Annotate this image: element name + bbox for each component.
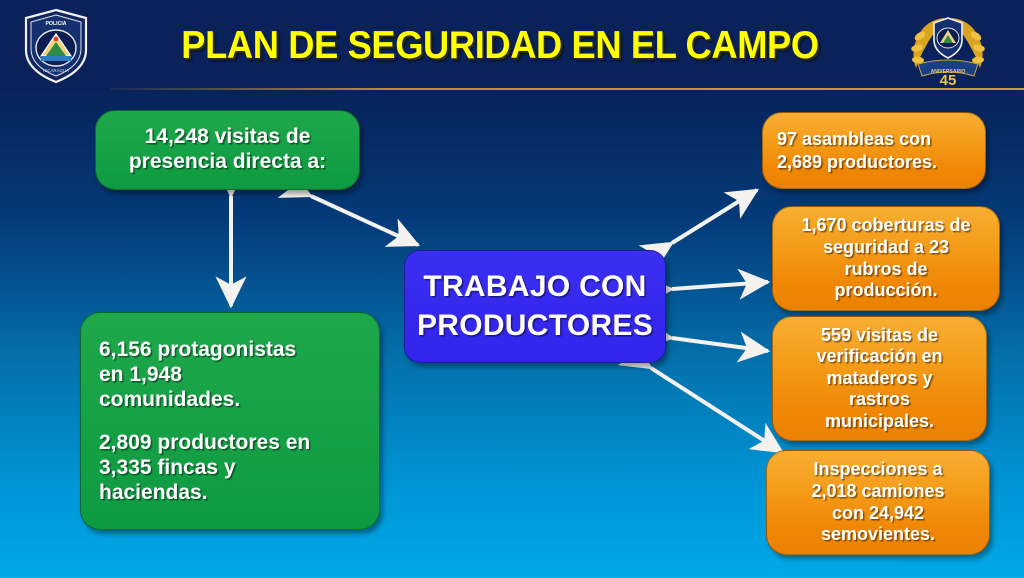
header-divider-rule (110, 88, 1024, 90)
node-line: semovientes. (777, 524, 979, 546)
slide-canvas: POLICIA NICARAGUA ANIVERSARIO 45 PLAN DE… (0, 0, 1024, 578)
node-line: comunidades. (99, 387, 361, 412)
node-line: seguridad a 23 (783, 237, 989, 259)
node-line: presencia directa a: (112, 150, 343, 175)
node-line: 1,670 coberturas de (783, 215, 989, 237)
node-line: con 24,942 (777, 503, 979, 525)
svg-text:NICARAGUA: NICARAGUA (43, 68, 69, 73)
node-line: verificación en (783, 346, 976, 368)
node-line: mataderos y (783, 368, 976, 390)
node-line: PRODUCTORES (415, 307, 655, 345)
node-line: 6,156 protagonistas (99, 337, 361, 362)
node-line: rastros (783, 389, 976, 411)
node-line: producción. (783, 280, 989, 302)
node-protagonistas-comunidades[interactable]: 6,156 protagonistas en 1,948 comunidades… (80, 312, 380, 530)
page-title: PLAN DE SEGURIDAD EN EL CAMPO (147, 24, 854, 68)
node-coberturas-seguridad[interactable]: 1,670 coberturas de seguridad a 23 rubro… (772, 206, 1000, 311)
node-line: TRABAJO CON (415, 268, 655, 306)
node-line: municipales. (783, 411, 976, 433)
node-visitas-mataderos[interactable]: 559 visitas de verificación en mataderos… (772, 316, 987, 441)
node-line: en 1,948 (99, 362, 361, 387)
node-line: 14,248 visitas de (112, 125, 343, 150)
node-line: Inspecciones a (777, 459, 979, 481)
45-aniversario-laurel-icon: ANIVERSARIO 45 (900, 6, 996, 88)
paragraph-spacer (99, 412, 361, 430)
svg-text:POLICIA: POLICIA (45, 21, 66, 27)
node-line: 97 asambleas con (777, 128, 971, 151)
connector-center-to-coberturas (672, 282, 768, 289)
connector-center-to-mataderos (672, 338, 768, 351)
node-line: rubros de (783, 259, 989, 281)
connector-visitas-to-center (311, 196, 418, 245)
node-line: haciendas. (99, 480, 361, 505)
svg-text:45: 45 (940, 72, 957, 88)
node-trabajo-con-productores[interactable]: TRABAJO CON PRODUCTORES (404, 250, 666, 363)
node-line: 2,809 productores en (99, 430, 361, 455)
node-line: 559 visitas de (783, 325, 976, 347)
node-line: 3,335 fincas y (99, 455, 361, 480)
node-visitas-presencia-directa[interactable]: 14,248 visitas de presencia directa a: (95, 110, 360, 190)
node-asambleas-productores[interactable]: 97 asambleas con 2,689 productores. (762, 112, 986, 189)
node-inspecciones-camiones[interactable]: Inspecciones a 2,018 camiones con 24,942… (766, 450, 990, 555)
node-line: 2,689 productores. (777, 151, 971, 174)
connector-center-to-asambleas (672, 190, 757, 243)
node-line: 2,018 camiones (777, 481, 979, 503)
policia-nacional-shield-icon: POLICIA NICARAGUA (22, 8, 90, 84)
connector-center-to-inspecciones (651, 368, 782, 452)
